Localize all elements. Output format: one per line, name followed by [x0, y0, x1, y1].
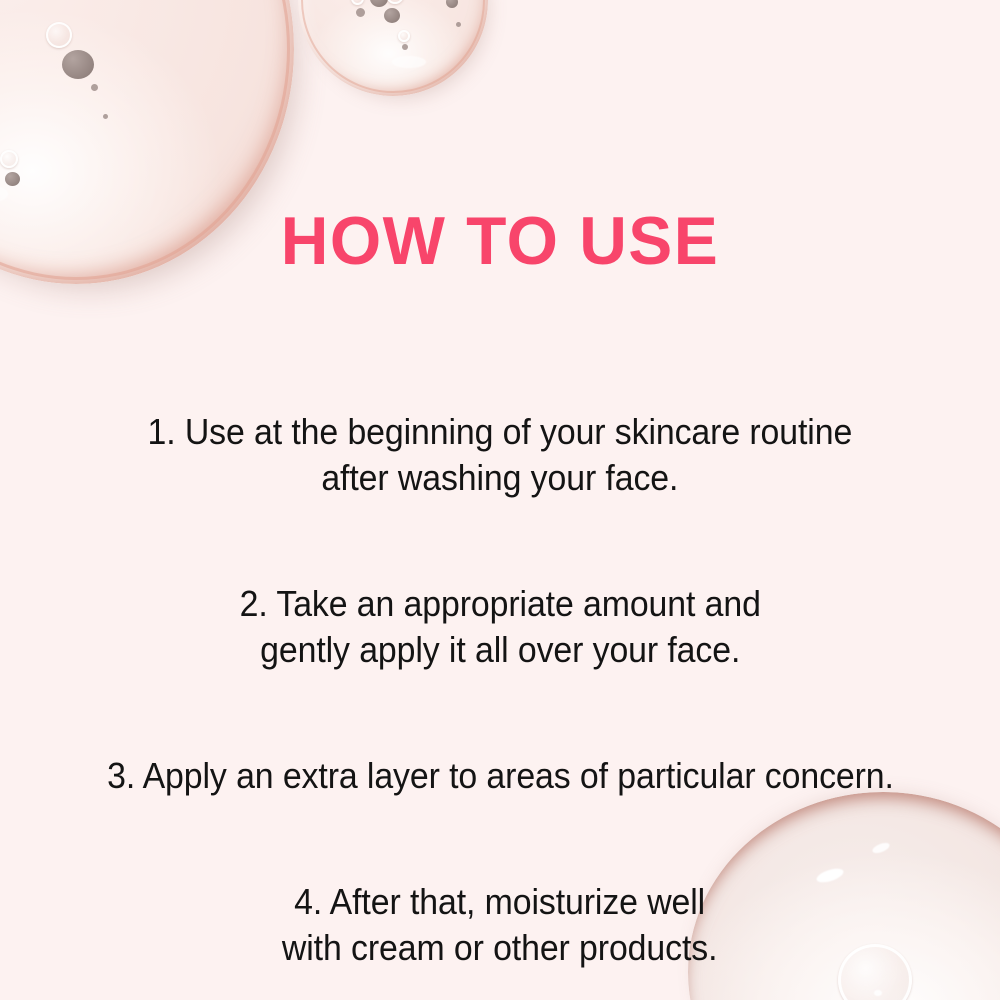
page-title: HOW TO USE — [281, 207, 719, 275]
step-item-2: 2. Take an appropriate amount and gently… — [239, 581, 760, 673]
step-item-4: 4. After that, moisturize well with crea… — [282, 879, 717, 971]
step-item-1: 1. Use at the beginning of your skincare… — [148, 409, 853, 501]
poster-content: HOW TO USE 1. Use at the beginning of yo… — [0, 0, 1000, 1000]
steps-list: 1. Use at the beginning of your skincare… — [30, 373, 970, 972]
step-item-3: 3. Apply an extra layer to areas of part… — [107, 753, 894, 799]
how-to-use-poster: HOW TO USE 1. Use at the beginning of yo… — [0, 0, 1000, 1000]
